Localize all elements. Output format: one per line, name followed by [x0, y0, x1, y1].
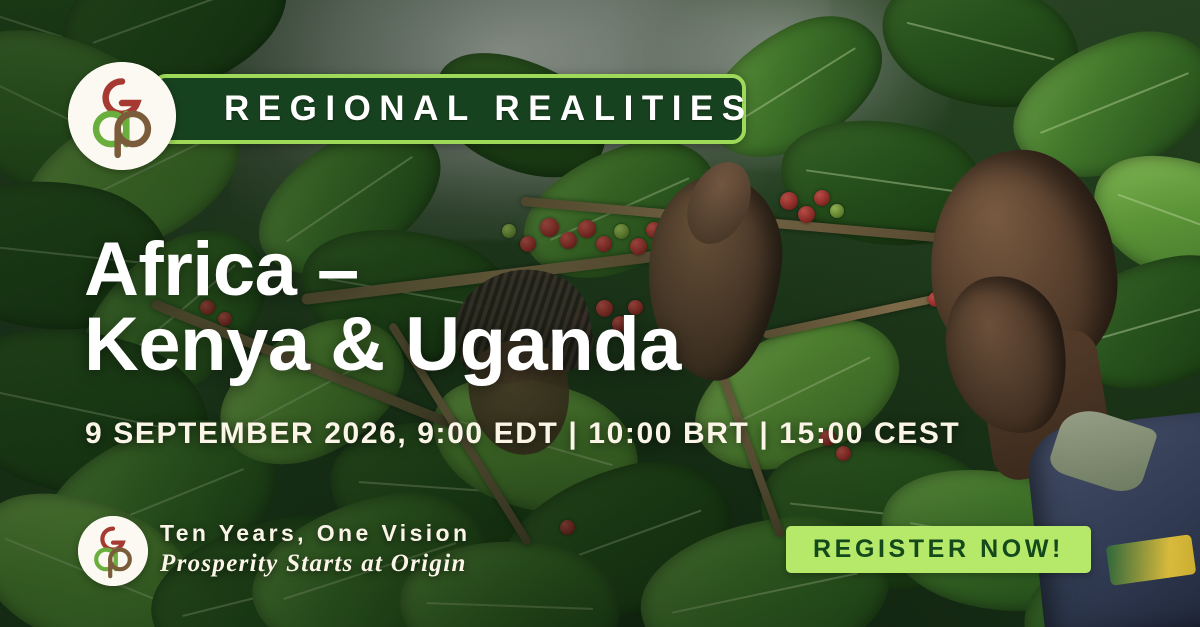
- register-now-button[interactable]: REGISTER NOW!: [786, 526, 1091, 573]
- gcp-monogram-icon: [68, 62, 176, 170]
- poster-content: REGIONAL REALITIES Africa – Kenya & Ugan…: [0, 0, 1200, 627]
- gcp-monogram-icon: [78, 516, 148, 586]
- tagline-secondary: Prosperity Starts at Origin: [160, 550, 470, 578]
- tagline-primary: Ten Years, One Vision: [160, 520, 470, 547]
- brand-logo-bottom: [78, 516, 148, 586]
- promo-poster: REGIONAL REALITIES Africa – Kenya & Ugan…: [0, 0, 1200, 627]
- series-ribbon: REGIONAL REALITIES: [152, 74, 746, 144]
- brand-tagline: Ten Years, One Vision Prosperity Starts …: [160, 520, 470, 578]
- event-datetime: 9 SEPTEMBER 2026, 9:00 EDT | 10:00 BRT |…: [85, 417, 960, 451]
- series-ribbon-label: REGIONAL REALITIES: [156, 89, 754, 129]
- brand-logo-top: [68, 62, 176, 170]
- register-now-label: REGISTER NOW!: [813, 535, 1064, 564]
- page-title: Africa – Kenya & Uganda: [84, 232, 681, 382]
